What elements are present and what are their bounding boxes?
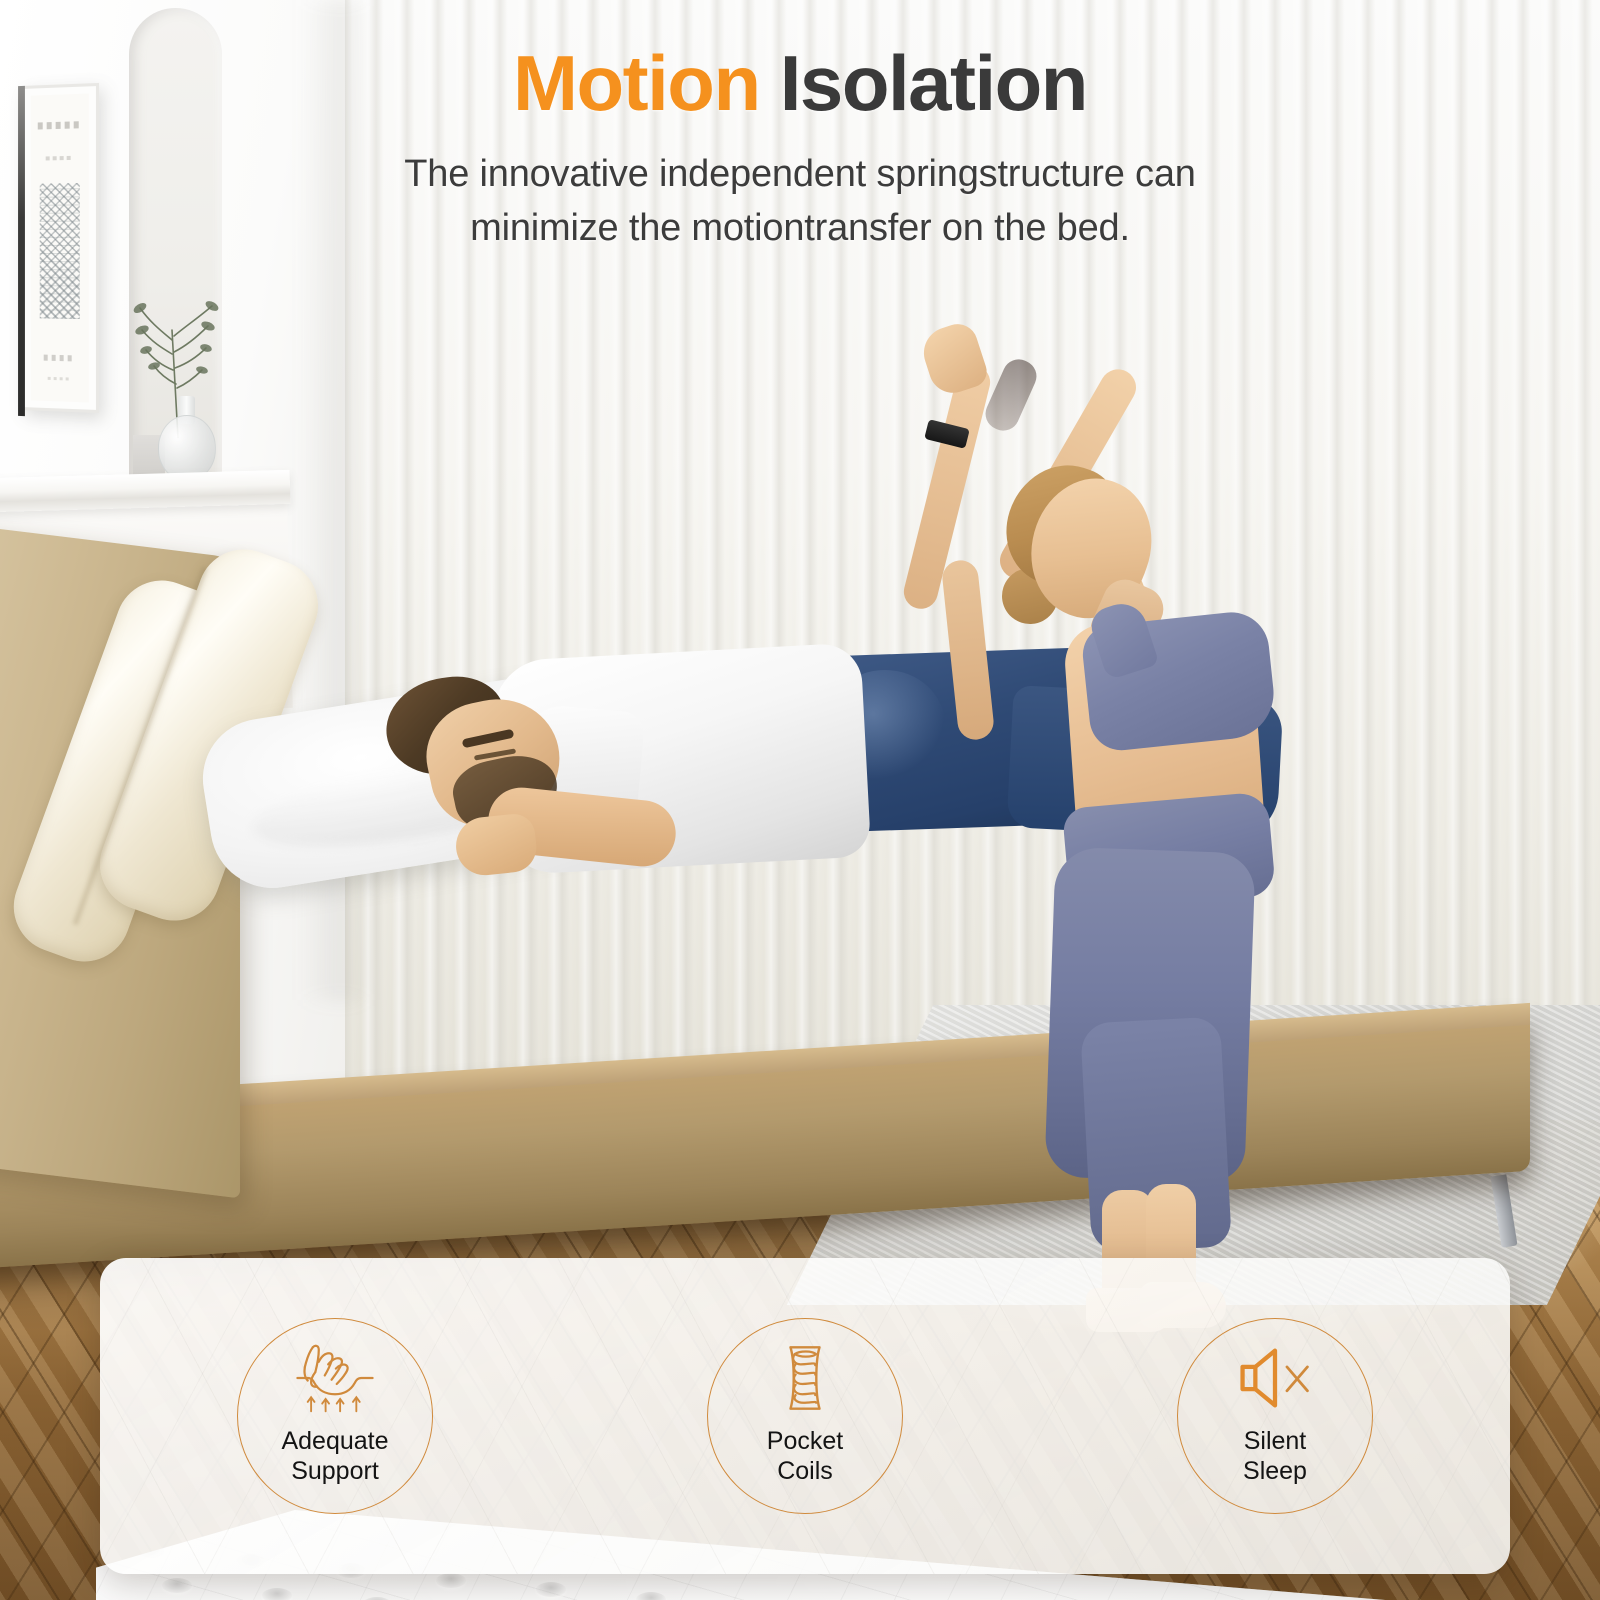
- headline-accent-word: Motion: [513, 39, 760, 127]
- mattress-tuft: [436, 1573, 466, 1588]
- feature-label-line-2: Support: [281, 1457, 388, 1487]
- artwork-footer-text-2: [48, 377, 71, 381]
- product-marketing-image: Motion Isolation The innovative independ…: [0, 0, 1600, 1600]
- feature-highlights-panel: Adequate Support Pocket Coils: [100, 1258, 1510, 1574]
- feature-pocket-coils[interactable]: Pocket Coils: [707, 1318, 903, 1514]
- stretching-woman: [890, 330, 1360, 1310]
- feature-label-pocket-coils: Pocket Coils: [767, 1427, 843, 1486]
- feature-label-adequate-support: Adequate Support: [281, 1427, 388, 1486]
- hand-pressing-surface-icon: [292, 1343, 378, 1413]
- feature-label-silent-sleep: Silent Sleep: [1243, 1427, 1307, 1486]
- feature-silent-sleep[interactable]: Silent Sleep: [1177, 1318, 1373, 1514]
- pocket-coil-spring-icon: [762, 1343, 848, 1413]
- artwork-footer-text: [43, 355, 75, 362]
- feature-label-line-1: Silent: [1243, 1427, 1307, 1457]
- feature-adequate-support[interactable]: Adequate Support: [237, 1318, 433, 1514]
- subtitle-line-1: The innovative independent springstructu…: [0, 148, 1600, 202]
- mattress-tuft: [536, 1582, 566, 1597]
- feature-label-line-2: Sleep: [1243, 1457, 1307, 1487]
- woman-arm-tattoo: [980, 354, 1041, 435]
- subtitle-line-2: minimize the motiontransfer on the bed.: [0, 202, 1600, 256]
- feature-label-line-1: Pocket: [767, 1427, 843, 1457]
- feature-label-line-2: Coils: [767, 1457, 843, 1487]
- mattress-tuft: [636, 1592, 666, 1600]
- woman-left-arm-lower: [941, 559, 996, 742]
- muted-speaker-icon: [1232, 1343, 1318, 1413]
- page-subtitle: The innovative independent springstructu…: [0, 148, 1600, 256]
- feature-label-line-1: Adequate: [281, 1427, 388, 1457]
- mattress-tuft: [262, 1588, 292, 1600]
- mattress-tuft: [162, 1578, 192, 1593]
- headline-main-word: Isolation: [780, 39, 1087, 127]
- olive-branch-icon: [116, 278, 236, 438]
- page-title: Motion Isolation: [0, 44, 1600, 124]
